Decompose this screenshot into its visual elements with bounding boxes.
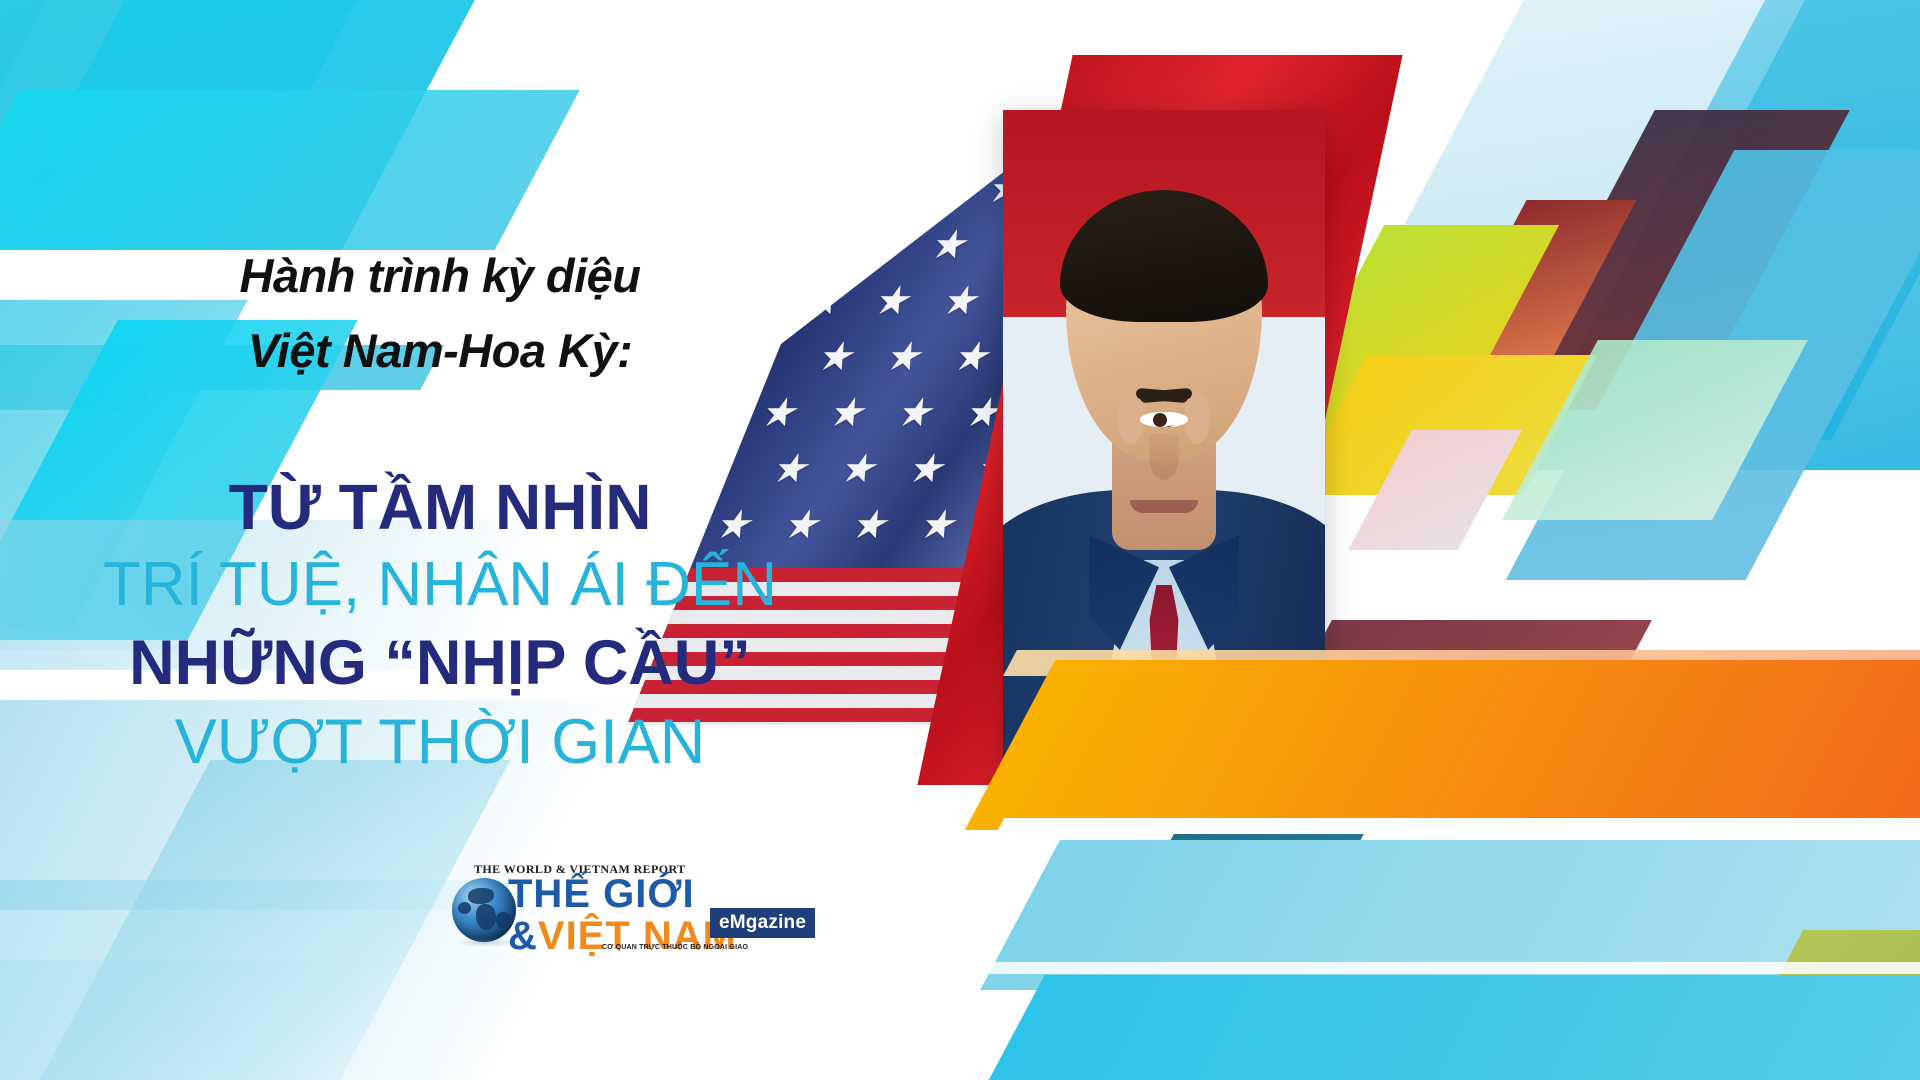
star-icon: ★ (913, 169, 965, 209)
star-icon: ★ (902, 449, 954, 489)
bg-shape-white-separator-2 (987, 962, 1920, 974)
logo-name-line-1: THẾ GIỚI (508, 874, 737, 914)
star-icon: ★ (879, 337, 931, 377)
title-line-3: NHỮNG “NHỊP CẦU” (0, 627, 880, 699)
bg-shape-cyan-band-2 (975, 975, 1920, 1080)
logo-subtitle: CƠ QUAN TRỰC THUỘC BỘ NGOẠI GIAO (602, 944, 748, 951)
star-icon: ★ (936, 281, 988, 321)
bg-shape-right-teal (1506, 150, 1920, 580)
bg-shape-right-pink (1348, 430, 1522, 550)
globe-icon (452, 878, 516, 942)
portrait-eye-right (1140, 412, 1180, 427)
portrait-photo (1003, 110, 1325, 800)
portrait-nose (1149, 434, 1179, 480)
bg-shape-right-dark (1495, 110, 1850, 410)
star-icon: ★ (925, 225, 977, 265)
emagazine-cover: ★★★★★★★★★★★★★★★★★★★★★★★★★★★★★★★★★★★★★★★★… (0, 0, 1920, 1080)
logo-ampersand: & (508, 914, 538, 958)
bg-shape-right-cyan-1 (1515, 0, 1920, 470)
portrait-mouth (1130, 500, 1198, 513)
bg-shape-cyan-band-1 (980, 840, 1920, 990)
kicker-line-2: Việt Nam-Hoa Kỳ: (0, 323, 880, 378)
title-line-2: TRÍ TUỆ, NHÂN ÁI ĐẾN (0, 549, 880, 620)
title-line-1: TỪ TẦM NHÌN (0, 470, 880, 544)
star-icon: ★ (914, 505, 966, 545)
bg-shape-white-separator-1 (996, 818, 1920, 834)
star-icon: ★ (947, 337, 999, 377)
star-icon: ★ (891, 393, 943, 433)
title-line-4: VƯỢT THỜI GIAN (0, 706, 880, 778)
emagazine-badge[interactable]: eMgazine (710, 908, 815, 938)
bg-shape-right-light-green (1502, 340, 1808, 520)
publisher-logo[interactable]: THE WORLD & VIETNAM REPORT THẾ GIỚI &VIỆ… (452, 862, 782, 958)
logo-name-vietnam: VIỆT NAM (538, 914, 737, 958)
globe-shadow (456, 938, 516, 947)
kicker-line-1: Hành trình kỳ diệu (0, 248, 880, 303)
bg-shape-right-cyan-2 (1571, 0, 1920, 440)
bg-shape-right-orange-block (1433, 200, 1636, 375)
bg-shape-olive (1697, 930, 1920, 1080)
